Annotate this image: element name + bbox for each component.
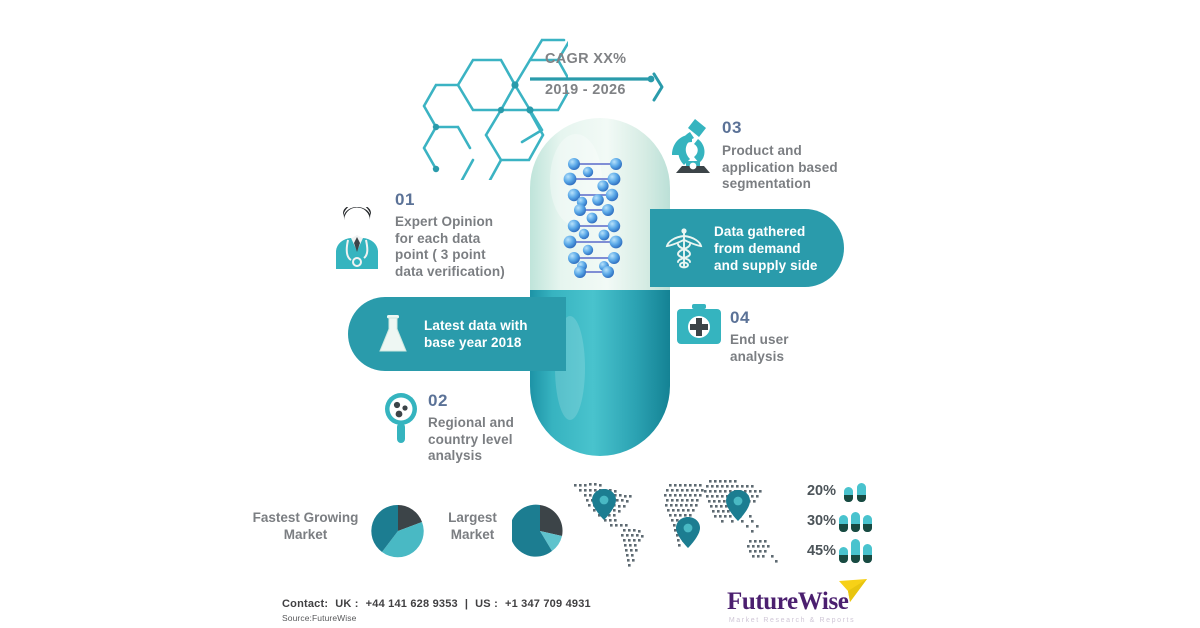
item-01-line4: data verification) — [395, 264, 545, 281]
banner-1-line2: from demand — [714, 240, 818, 257]
item-04-number: 04 — [730, 309, 750, 326]
largest-market-line1: Largest — [425, 509, 520, 526]
item-01-line2: for each data — [395, 231, 545, 248]
stat-2-capsule-bar-icon — [838, 537, 874, 563]
item-02-number: 02 — [428, 392, 448, 409]
caduceus-icon — [664, 226, 704, 270]
stat-0-capsule-bar-icon — [843, 478, 869, 502]
item-01-line1: Expert Opinion — [395, 214, 545, 231]
item-03-text: Product and application based segmentati… — [722, 143, 882, 193]
item-02-line3: analysis — [428, 448, 578, 465]
uk-label: UK : — [335, 598, 358, 610]
flask-icon — [376, 313, 410, 355]
demand-supply-banner: Data gathered from demand and supply sid… — [650, 209, 844, 287]
item-01-number: 01 — [395, 191, 415, 208]
banner-2-line1: Latest data with — [424, 317, 528, 334]
futurewise-logo: FutureWise Market Research & Reports — [727, 588, 857, 624]
dna-helix-icon — [558, 152, 638, 282]
doctor-icon — [330, 207, 384, 269]
us-label: US : — [475, 598, 498, 610]
banner-1-line1: Data gathered — [714, 223, 818, 240]
contact-separator: | — [465, 598, 468, 610]
banner-1-line3: and supply side — [714, 257, 818, 274]
item-01-line3: point ( 3 point — [395, 247, 545, 264]
uk-phone: +44 141 628 9353 — [366, 598, 458, 610]
item-03-line3: segmentation — [722, 176, 882, 193]
item-03-number: 03 — [722, 119, 742, 136]
world-map-dotted-icon — [566, 472, 792, 572]
cagr-label: CAGR XX% — [545, 51, 626, 67]
item-02-text: Regional and country level analysis — [428, 415, 578, 465]
fastest-market-line1: Fastest Growing — [238, 509, 373, 526]
source-label: Source:FutureWise — [282, 613, 356, 623]
item-04-text: End user analysis — [730, 332, 880, 365]
magnifier-icon — [383, 392, 419, 446]
item-01-text: Expert Opinion for each data point ( 3 p… — [395, 214, 545, 280]
yellow-arrow-icon — [837, 578, 869, 604]
cagr-period: 2019 - 2026 — [545, 82, 626, 98]
infographic-canvas: CAGR XX% 2019 - 2026 — [0, 0, 1200, 628]
map-pin-north-america — [592, 489, 616, 520]
item-03-line1: Product and — [722, 143, 882, 160]
banner-2-line2: base year 2018 — [424, 334, 528, 351]
logo-text: FutureWise — [727, 588, 848, 615]
item-02-line1: Regional and — [428, 415, 578, 432]
item-04-line2: analysis — [730, 349, 880, 366]
fastest-growing-market-label: Fastest Growing Market — [238, 509, 373, 543]
base-year-banner: Latest data with base year 2018 — [348, 297, 566, 371]
footer-contact: Contact: UK : +44 141 628 9353 | US : +1… — [282, 598, 591, 610]
largest-market-pie — [512, 503, 568, 559]
stat-2-percent: 45% — [802, 543, 836, 559]
microscope-icon — [668, 115, 718, 177]
fastest-growing-market-pie — [370, 503, 426, 559]
stat-1-capsule-bar-icon — [838, 508, 874, 532]
stat-0-percent: 20% — [802, 483, 836, 499]
item-02-line2: country level — [428, 432, 578, 449]
fastest-market-line2: Market — [238, 526, 373, 543]
contact-prefix: Contact: — [282, 598, 328, 610]
medical-bag-icon — [676, 303, 722, 345]
largest-market-label: Largest Market — [425, 509, 520, 543]
stat-1-percent: 30% — [802, 513, 836, 529]
us-phone: +1 347 709 4931 — [505, 598, 591, 610]
logo-tagline: Market Research & Reports — [727, 617, 857, 624]
item-04-line1: End user — [730, 332, 880, 349]
map-pin-africa — [676, 517, 700, 548]
item-03-line2: application based — [722, 160, 882, 177]
largest-market-line2: Market — [425, 526, 520, 543]
